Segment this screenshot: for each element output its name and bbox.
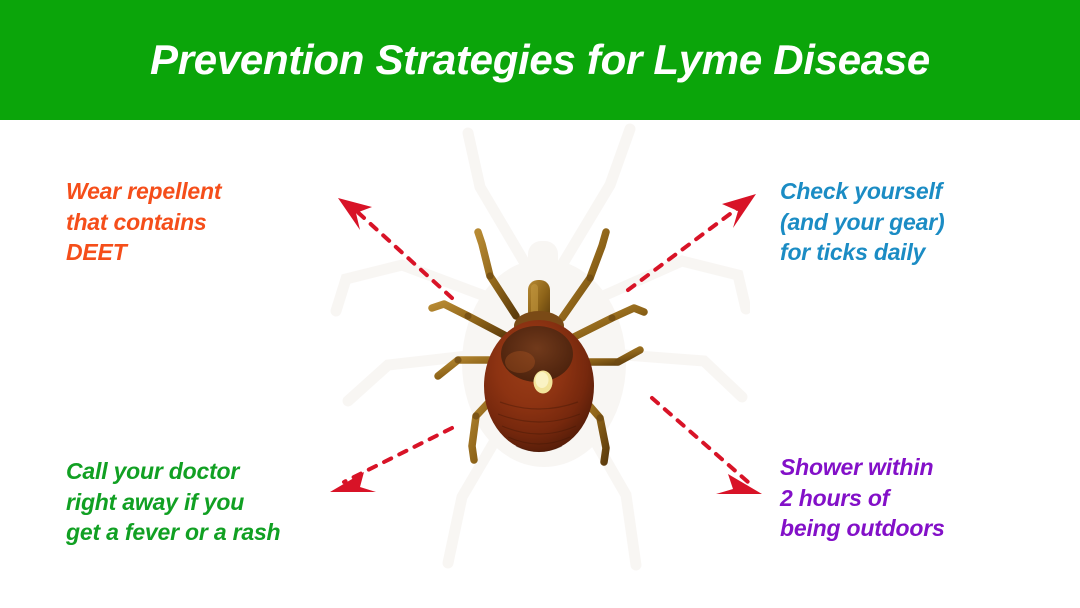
callout-check-yourself: Check yourself (and your gear) for ticks… — [780, 176, 1050, 268]
header-banner: Prevention Strategies for Lyme Disease — [0, 0, 1080, 120]
lone-star-tick-icon — [420, 220, 660, 470]
callout-shower-within: Shower within 2 hours of being outdoors — [780, 452, 1050, 544]
page-title: Prevention Strategies for Lyme Disease — [150, 39, 930, 81]
callout-wear-repellent: Wear repellent that contains DEET — [66, 176, 336, 268]
callout-call-doctor: Call your doctor right away if you get a… — [66, 456, 366, 548]
infographic-page: Prevention Strategies for Lyme Disease — [0, 0, 1080, 608]
